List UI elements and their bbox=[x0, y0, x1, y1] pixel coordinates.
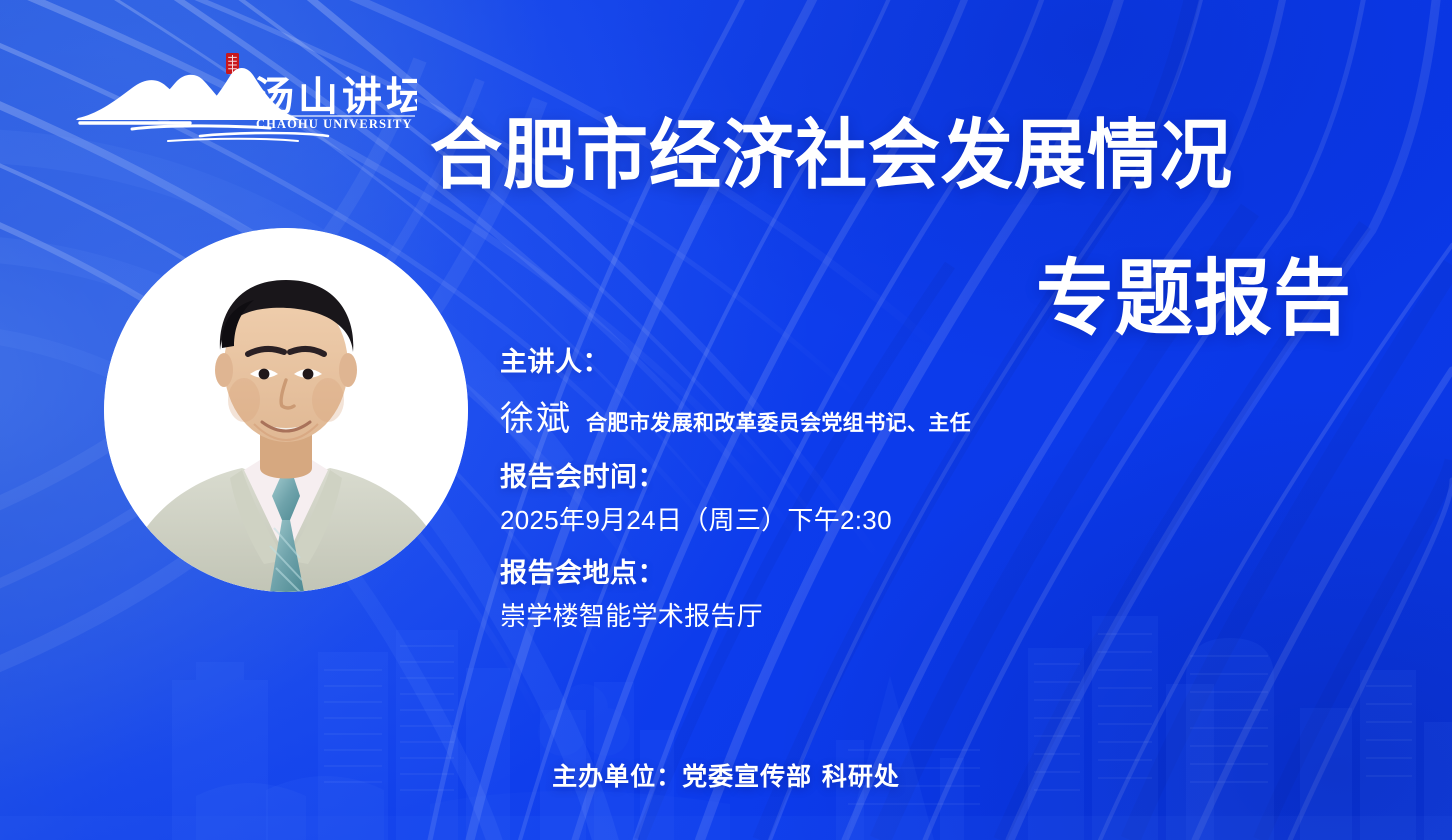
logo-cn-text: 汤山讲坛 bbox=[254, 74, 417, 119]
time-value: 2025年9月24日（周三）下午2:30 bbox=[500, 505, 1200, 536]
speaker-name: 徐斌 bbox=[500, 391, 572, 440]
place-value: 崇学楼智能学术报告厅 bbox=[500, 601, 1200, 632]
speaker-row: 徐斌 合肥市发展和改革委员会党组书记、主任 bbox=[500, 391, 1200, 440]
logo-en-text: CHAOHU UNIVERSITY bbox=[256, 117, 413, 131]
time-label: 报告会时间： bbox=[500, 463, 1200, 493]
poster-canvas: 汤山讲坛 CHAOHU UNIVERSITY 合肥市经济社会发展情况 专题报告 bbox=[0, 0, 1452, 840]
speaker-label: 主讲人： bbox=[500, 348, 1200, 378]
event-details-block: 主讲人： 徐斌 合肥市发展和改革委员会党组书记、主任 报告会时间： 2025年9… bbox=[500, 348, 1200, 632]
page-title-line2: 专题报告 bbox=[1036, 258, 1352, 341]
place-label: 报告会地点： bbox=[500, 559, 1200, 589]
organizer-footer: 主办单位：党委宣传部 科研处 bbox=[0, 757, 1452, 793]
page-title-line1: 合肥市经济社会发展情况 bbox=[430, 117, 1233, 193]
chaohu-university-forum-logo: 汤山讲坛 CHAOHU UNIVERSITY bbox=[72, 52, 417, 144]
speaker-portrait-avatar bbox=[104, 228, 468, 592]
speaker-job-title: 合肥市发展和改革委员会党组书记、主任 bbox=[586, 407, 971, 437]
